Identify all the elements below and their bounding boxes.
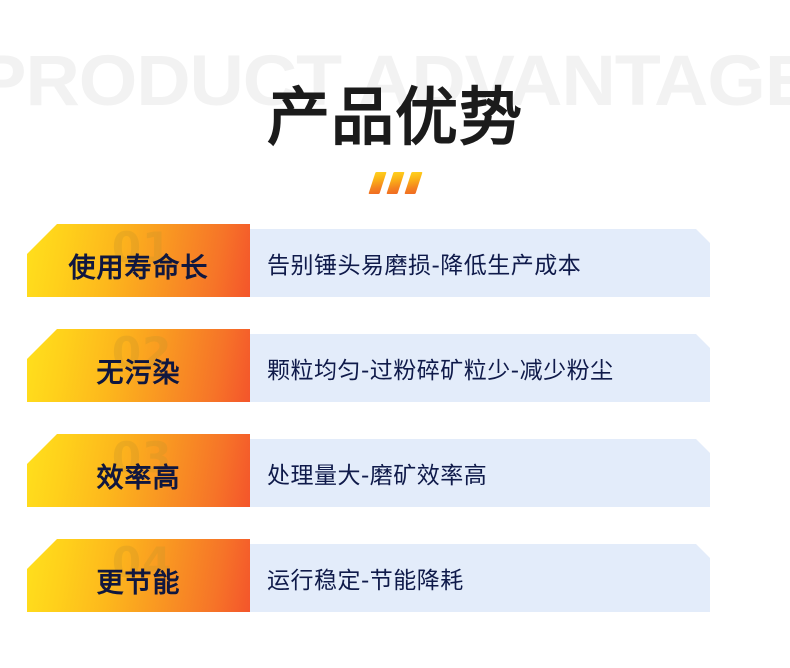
- advantage-description: 告别锤头易磨损-降低生产成本: [267, 246, 581, 280]
- advantage-description-panel: 运行稳定-节能降耗: [246, 544, 710, 612]
- advantage-description-panel: 处理量大-磨矿效率高: [246, 439, 710, 507]
- slash-icon: [404, 172, 422, 194]
- advantage-tag: 02 无污染: [27, 329, 250, 402]
- advantage-row: 处理量大-磨矿效率高 03 效率高: [0, 434, 790, 507]
- advantage-row: 运行稳定-节能降耗 04 更节能: [0, 539, 790, 612]
- slash-icon: [368, 172, 386, 194]
- advantage-label: 效率高: [97, 456, 181, 495]
- advantage-description-panel: 告别锤头易磨损-降低生产成本: [246, 229, 710, 297]
- page-title: 产品优势: [0, 84, 790, 152]
- advantage-label: 使用寿命长: [69, 246, 209, 285]
- advantage-label: 更节能: [97, 561, 181, 600]
- advantage-tag: 01 使用寿命长: [27, 224, 250, 297]
- advantage-tag: 04 更节能: [27, 539, 250, 612]
- page-header: PRODUCT ADVANTAGE 产品优势: [0, 0, 790, 215]
- advantage-description: 颗粒均匀-过粉碎矿粒少-减少粉尘: [267, 351, 614, 385]
- advantage-tag: 03 效率高: [27, 434, 250, 507]
- advantage-description: 处理量大-磨矿效率高: [267, 456, 487, 490]
- title-slash-decoration: [0, 172, 790, 198]
- slash-icon: [386, 172, 404, 194]
- advantage-description-panel: 颗粒均匀-过粉碎矿粒少-减少粉尘: [246, 334, 710, 402]
- advantage-row: 颗粒均匀-过粉碎矿粒少-减少粉尘 02 无污染: [0, 329, 790, 402]
- advantage-row: 告别锤头易磨损-降低生产成本 01 使用寿命长: [0, 224, 790, 297]
- advantage-label: 无污染: [97, 351, 181, 390]
- advantage-description: 运行稳定-节能降耗: [267, 561, 464, 595]
- advantage-list: 告别锤头易磨损-降低生产成本 01 使用寿命长 颗粒均匀-过粉碎矿粒少-减少粉尘…: [0, 224, 790, 612]
